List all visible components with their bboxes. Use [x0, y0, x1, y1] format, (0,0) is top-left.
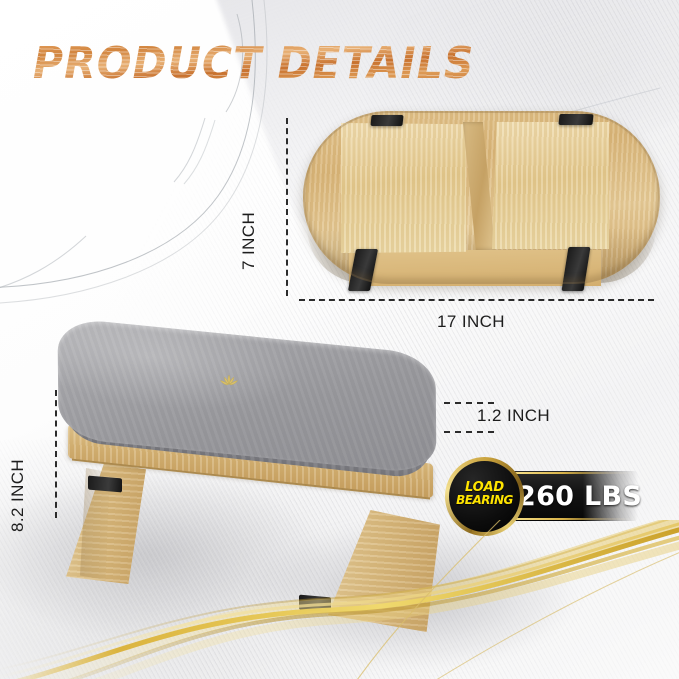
product-details-infographic: PRODUCT DETAILS 7 INCH 17 INCH: [0, 0, 679, 679]
assembled-stool-image: [28, 332, 473, 632]
page-title: PRODUCT DETAILS: [33, 38, 475, 89]
load-bearing-value: 260 LBS: [517, 481, 647, 512]
gold-lotus-emblem-icon: [216, 372, 242, 392]
cushion-thickness-label: 1.2 INCH: [477, 406, 550, 426]
stool-leg-right: [328, 510, 440, 632]
stool-height-label: 8.2 INCH: [8, 459, 28, 532]
load-bearing-label: LOAD BEARING: [445, 481, 524, 507]
cushion-thickness-guide-top: [444, 402, 494, 404]
folded-height-guide-line: [286, 118, 288, 296]
load-bearing-badge: 260 LBS LOAD BEARING: [445, 457, 645, 537]
folded-stool-image: [303, 111, 660, 284]
folded-width-label: 17 INCH: [437, 312, 505, 332]
cushion-thickness-guide-bottom: [444, 431, 494, 433]
stool-strap-left: [88, 476, 122, 493]
stool-strap-right: [299, 595, 331, 613]
stool-height-guide-line: [55, 390, 57, 518]
folded-stool-rim: [303, 111, 660, 284]
folded-height-label: 7 INCH: [239, 212, 259, 270]
folded-width-guide-line: [299, 299, 654, 301]
load-bearing-label-line2: BEARING: [445, 494, 524, 507]
